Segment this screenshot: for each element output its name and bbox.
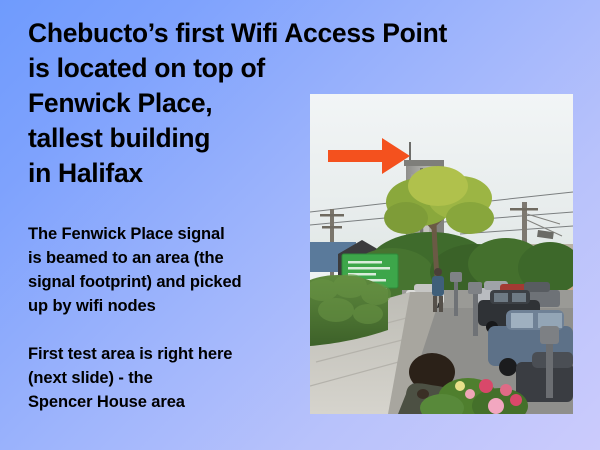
paragraph-signal-line-2: is beamed to an area (the	[28, 246, 306, 270]
paragraph-test-area-line-3: Spencer House area	[28, 390, 306, 414]
title-line-3: Fenwick Place,	[28, 86, 306, 121]
paragraph-test-area-line-2: (next slide) - the	[28, 366, 306, 390]
page-title: Chebucto’s first Wifi Access Point is lo…	[28, 16, 306, 191]
paragraph-signal: The Fenwick Place signal is beamed to an…	[28, 222, 306, 318]
title-line-4: tallest building	[28, 121, 306, 156]
paragraph-signal-line-4: up by wifi nodes	[28, 294, 306, 318]
text-column: Chebucto’s first Wifi Access Point is lo…	[28, 16, 306, 414]
paragraph-signal-line-1: The Fenwick Place signal	[28, 222, 306, 246]
street-photo	[310, 94, 573, 414]
paragraph-test-area: First test area is right here (next slid…	[28, 342, 306, 414]
paragraph-test-area-line-1: First test area is right here	[28, 342, 306, 366]
title-line-2: is located on top of	[28, 51, 306, 86]
title-line-1: Chebucto’s first Wifi Access Point	[28, 16, 306, 51]
paragraph-signal-line-3: signal footprint) and picked	[28, 270, 306, 294]
title-line-5: in Halifax	[28, 156, 306, 191]
slide-canvas: Chebucto’s first Wifi Access Point is lo…	[0, 0, 600, 450]
